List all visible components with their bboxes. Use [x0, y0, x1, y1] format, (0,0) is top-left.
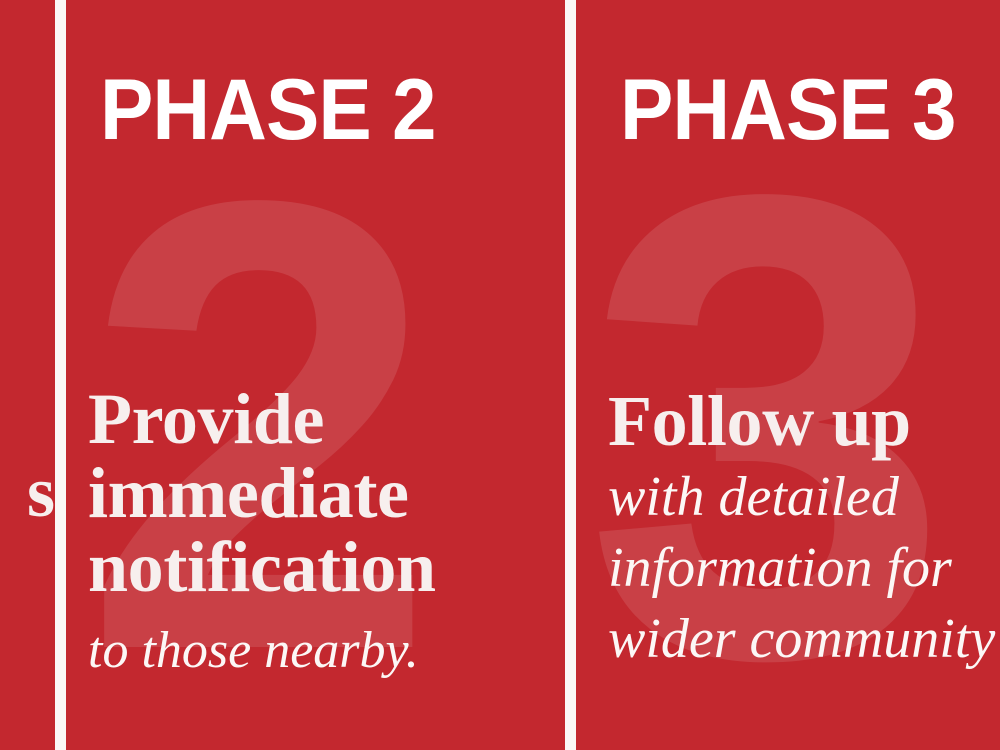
phase-cards-stage: s 2 PHASE 2 Provide immediate notificati…: [0, 0, 1000, 750]
phase-1-lead-text: s: [0, 455, 56, 529]
phase-3-lead-line-1: Follow up: [608, 384, 1000, 458]
phase-2-copy-block: Provide immediate notification to those …: [88, 382, 564, 681]
panel-divider-2-3: [565, 0, 576, 750]
phase-card-2[interactable]: 2 PHASE 2 Provide immediate notification…: [66, 0, 564, 750]
phase-3-sub-line-1: with detailed: [608, 466, 1000, 529]
phase-card-3[interactable]: 3 PHASE 3 Follow up with detailed inform…: [576, 0, 1000, 750]
phase-3-sub-line-3: wider community: [608, 608, 1000, 671]
phase-2-lead-line-3: notification: [88, 530, 564, 604]
phase-card-1[interactable]: s: [0, 0, 56, 750]
phase-3-sub-line-2: information for: [608, 537, 1000, 600]
phase-2-lead-line-1: Provide: [88, 382, 564, 456]
panel-divider-1-2: [55, 0, 66, 750]
phase-3-title: PHASE 3: [620, 67, 956, 153]
phase-2-lead-line-2: immediate: [88, 456, 564, 530]
phase-2-title: PHASE 2: [100, 67, 436, 153]
phase-2-sub-text: to those nearby.: [88, 622, 564, 680]
phase-3-copy-block: Follow up with detailed information for …: [608, 384, 1000, 670]
